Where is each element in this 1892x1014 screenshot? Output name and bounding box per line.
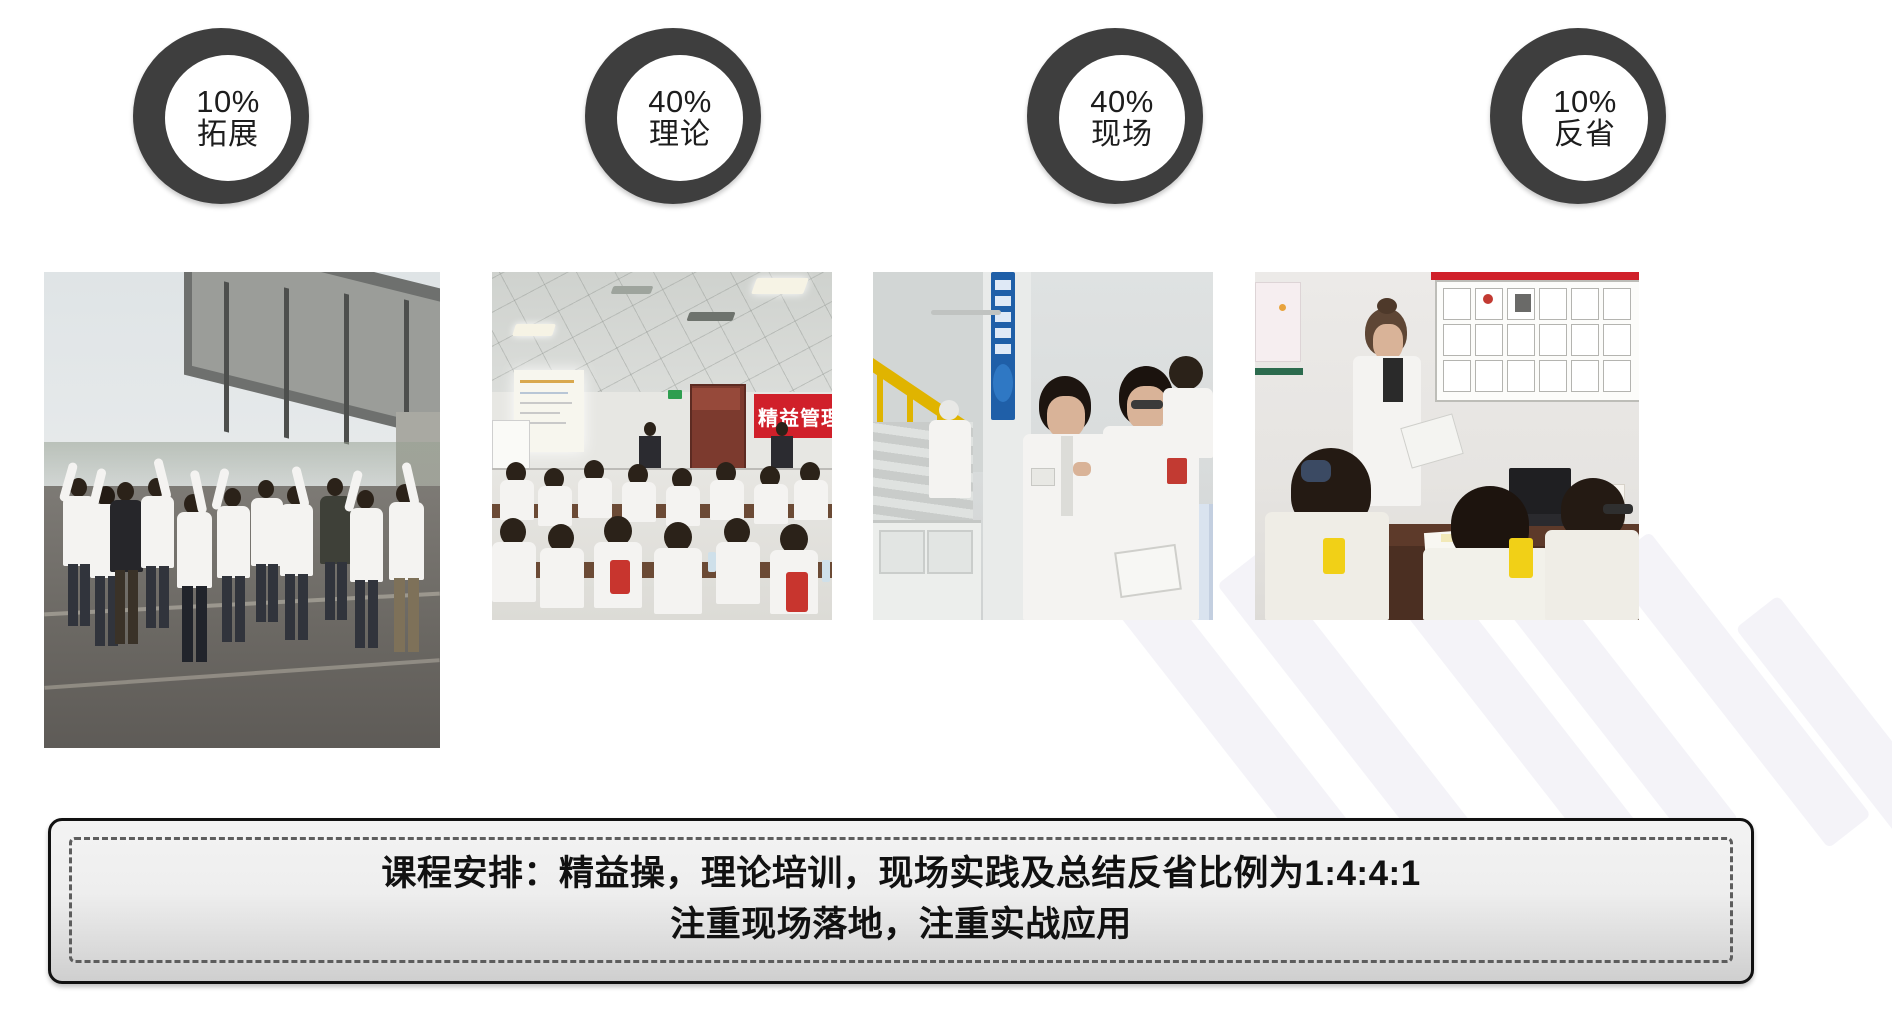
stat-label: 现场: [1091, 119, 1153, 151]
stat-circle-fanxing[interactable]: 10% 反省: [1490, 28, 1666, 204]
stat-label: 反省: [1554, 119, 1616, 151]
photo-row: 精益管理实战道场普及班: [0, 272, 1892, 748]
stat-label: 理论: [649, 119, 711, 151]
caption-box: 课程安排：精益操，理论培训，现场实践及总结反省比例为1:4:4:1 注重现场落地…: [48, 818, 1754, 984]
photo-tuozhan[interactable]: [44, 272, 440, 748]
caption-inner-dashed-frame: 课程安排：精益操，理论培训，现场实践及总结反省比例为1:4:4:1 注重现场落地…: [69, 837, 1733, 963]
stat-circle-tuozhan[interactable]: 10% 拓展: [133, 28, 309, 204]
stat-circle-inner: 40% 现场: [1059, 55, 1185, 181]
stat-label: 拓展: [197, 119, 259, 151]
caption-line-2: 注重现场落地，注重实战应用: [670, 900, 1132, 951]
photo-fanxing[interactable]: [1255, 272, 1639, 620]
photo-xianchang[interactable]: [873, 272, 1213, 620]
stat-percent: 40%: [648, 85, 712, 118]
stat-percent: 10%: [196, 85, 260, 118]
photo-banner-text: 精益管理实战道场普及班: [754, 402, 832, 431]
stat-circle-inner: 10% 反省: [1522, 55, 1648, 181]
caption-line-1: 课程安排：精益操，理论培训，现场实践及总结反省比例为1:4:4:1: [381, 849, 1420, 900]
photo-lilun[interactable]: 精益管理实战道场普及班: [492, 272, 832, 620]
stat-circle-lilun[interactable]: 40% 理论: [585, 28, 761, 204]
stat-circle-xianchang[interactable]: 40% 现场: [1027, 28, 1203, 204]
stat-circle-inner: 10% 拓展: [165, 55, 291, 181]
stat-circle-inner: 40% 理论: [617, 55, 743, 181]
stat-percent: 40%: [1090, 85, 1154, 118]
stat-percent: 10%: [1553, 85, 1617, 118]
stat-circles-row: 10% 拓展 40% 理论 40% 现场 10% 反省: [0, 28, 1892, 208]
